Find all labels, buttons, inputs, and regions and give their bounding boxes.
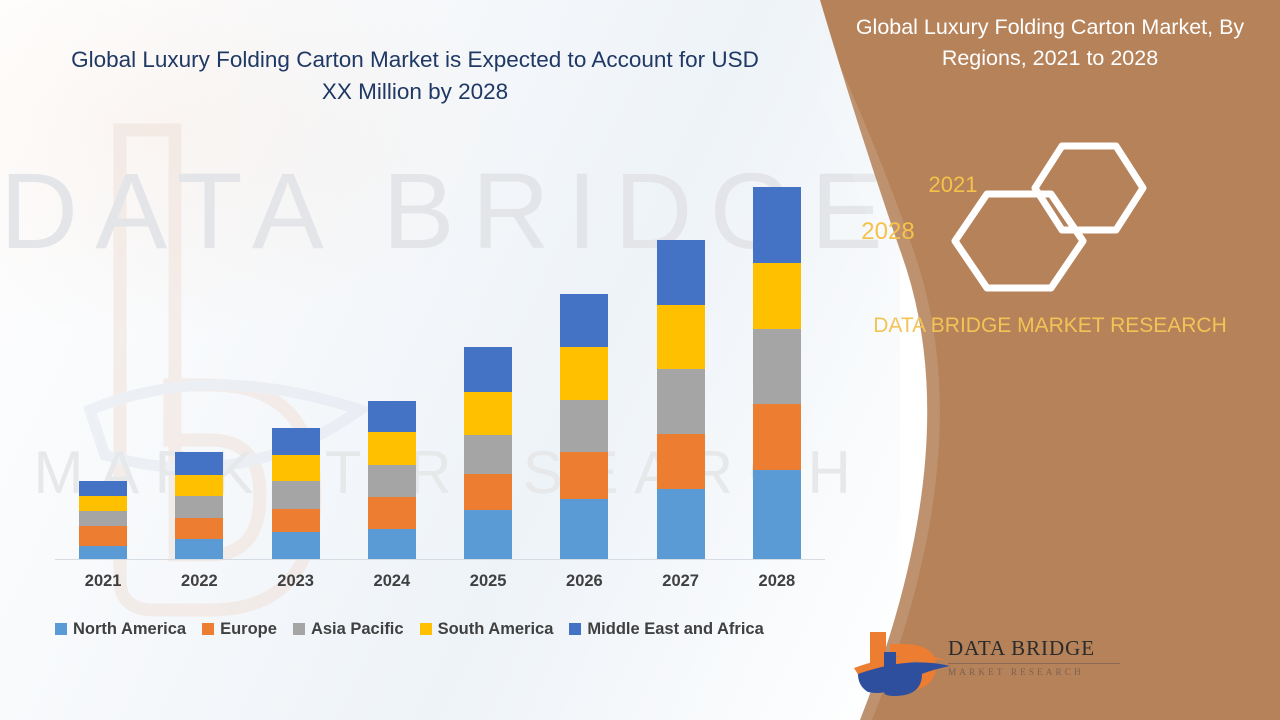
legend-swatch-icon — [202, 623, 214, 635]
logo-text-block: DATA BRIDGE MARKET RESEARCH — [948, 636, 1128, 677]
bar-segment — [175, 539, 223, 559]
legend-label: Asia Pacific — [311, 620, 404, 639]
bar-segment — [464, 435, 512, 474]
x-axis-tick-2021: 2021 — [55, 572, 151, 591]
logo-title: DATA BRIDGE — [948, 636, 1128, 661]
bar-segment — [79, 526, 127, 546]
x-axis-tick-2026: 2026 — [536, 572, 632, 591]
hexagon-2021 — [1035, 146, 1143, 230]
chart-baseline — [55, 559, 825, 560]
x-axis-tick-2023: 2023 — [248, 572, 344, 591]
bar-segment — [464, 392, 512, 435]
bar-segment — [657, 369, 705, 434]
legend-swatch-icon — [293, 623, 305, 635]
x-axis-tick-2022: 2022 — [151, 572, 247, 591]
bar-segment — [657, 489, 705, 559]
legend-label: South America — [438, 620, 554, 639]
bar-segment — [753, 329, 801, 404]
brand-panel-title: Global Luxury Folding Carton Market, By … — [820, 12, 1280, 74]
bar-segment — [464, 347, 512, 392]
bar-group — [368, 401, 416, 559]
x-axis-tick-2027: 2027 — [633, 572, 729, 591]
bar-segment — [79, 511, 127, 526]
legend-item[interactable]: North America — [55, 620, 186, 639]
bar-segment — [272, 509, 320, 532]
bar-segment — [753, 404, 801, 470]
hexagon-label-2028: 2028 — [820, 218, 978, 246]
bar-group — [175, 452, 223, 559]
bar-segment — [368, 497, 416, 529]
bar-group — [79, 481, 127, 559]
brand-company-name: DATA BRIDGE MARKET RESEARCH — [820, 311, 1280, 341]
bar-segment — [753, 187, 801, 263]
bar-segment — [657, 434, 705, 489]
chart-panel: DATA BRIDGE MARKET RESEARCH Global Luxur… — [0, 0, 900, 720]
hexagon-label-2021: 2021 — [898, 172, 1008, 198]
logo-subtitle: MARKET RESEARCH — [948, 667, 1128, 677]
x-axis-labels: 20212022202320242025202620272028 — [55, 572, 825, 598]
bar-segment — [560, 400, 608, 452]
chart-legend: North AmericaEuropeAsia PacificSouth Ame… — [55, 616, 830, 642]
legend-item[interactable]: South America — [420, 620, 554, 639]
bar-segment — [79, 496, 127, 511]
bar-segment — [272, 532, 320, 559]
bar-segment — [79, 546, 127, 559]
x-axis-tick-2024: 2024 — [344, 572, 440, 591]
legend-item[interactable]: Middle East and Africa — [569, 620, 763, 639]
x-axis-tick-2028: 2028 — [729, 572, 825, 591]
bar-segment — [560, 347, 608, 400]
bar-segment — [657, 305, 705, 369]
bar-segment — [753, 263, 801, 329]
bar-segment — [79, 481, 127, 496]
bar-segment — [560, 294, 608, 347]
bar-segment — [753, 470, 801, 559]
legend-swatch-icon — [55, 623, 67, 635]
bar-segment — [272, 455, 320, 481]
bar-segment — [560, 499, 608, 559]
bar-segment — [464, 510, 512, 559]
bar-segment — [272, 481, 320, 509]
bar-segment — [175, 496, 223, 518]
bar-group — [560, 294, 608, 559]
legend-swatch-icon — [420, 623, 432, 635]
bar-segment — [368, 465, 416, 497]
bar-segment — [657, 240, 705, 305]
bar-segment — [464, 474, 512, 510]
bar-segment — [368, 432, 416, 465]
bar-segment — [368, 529, 416, 559]
bar-group — [464, 347, 512, 559]
bar-group — [657, 240, 705, 559]
bar-segment — [272, 428, 320, 455]
hexagon-year-graphic — [950, 138, 1160, 293]
legend-label: Middle East and Africa — [587, 620, 763, 639]
data-bridge-logo: DATA BRIDGE MARKET RESEARCH — [850, 628, 1100, 700]
chart-title: Global Luxury Folding Carton Market is E… — [70, 44, 760, 108]
brand-panel: Global Luxury Folding Carton Market, By … — [820, 0, 1280, 720]
bar-segment — [560, 452, 608, 499]
legend-swatch-icon — [569, 623, 581, 635]
bar-segment — [175, 475, 223, 496]
bar-segment — [368, 401, 416, 432]
legend-item[interactable]: Europe — [202, 620, 277, 639]
bar-segment — [175, 518, 223, 539]
bar-segment — [175, 452, 223, 475]
legend-label: Europe — [220, 620, 277, 639]
logo-divider — [948, 663, 1120, 664]
bar-group — [753, 187, 801, 559]
brand-panel-shape — [820, 0, 1280, 720]
bar-group — [272, 428, 320, 559]
chart-plot-area — [55, 150, 825, 560]
x-axis-tick-2025: 2025 — [440, 572, 536, 591]
legend-label: North America — [73, 620, 186, 639]
legend-item[interactable]: Asia Pacific — [293, 620, 404, 639]
